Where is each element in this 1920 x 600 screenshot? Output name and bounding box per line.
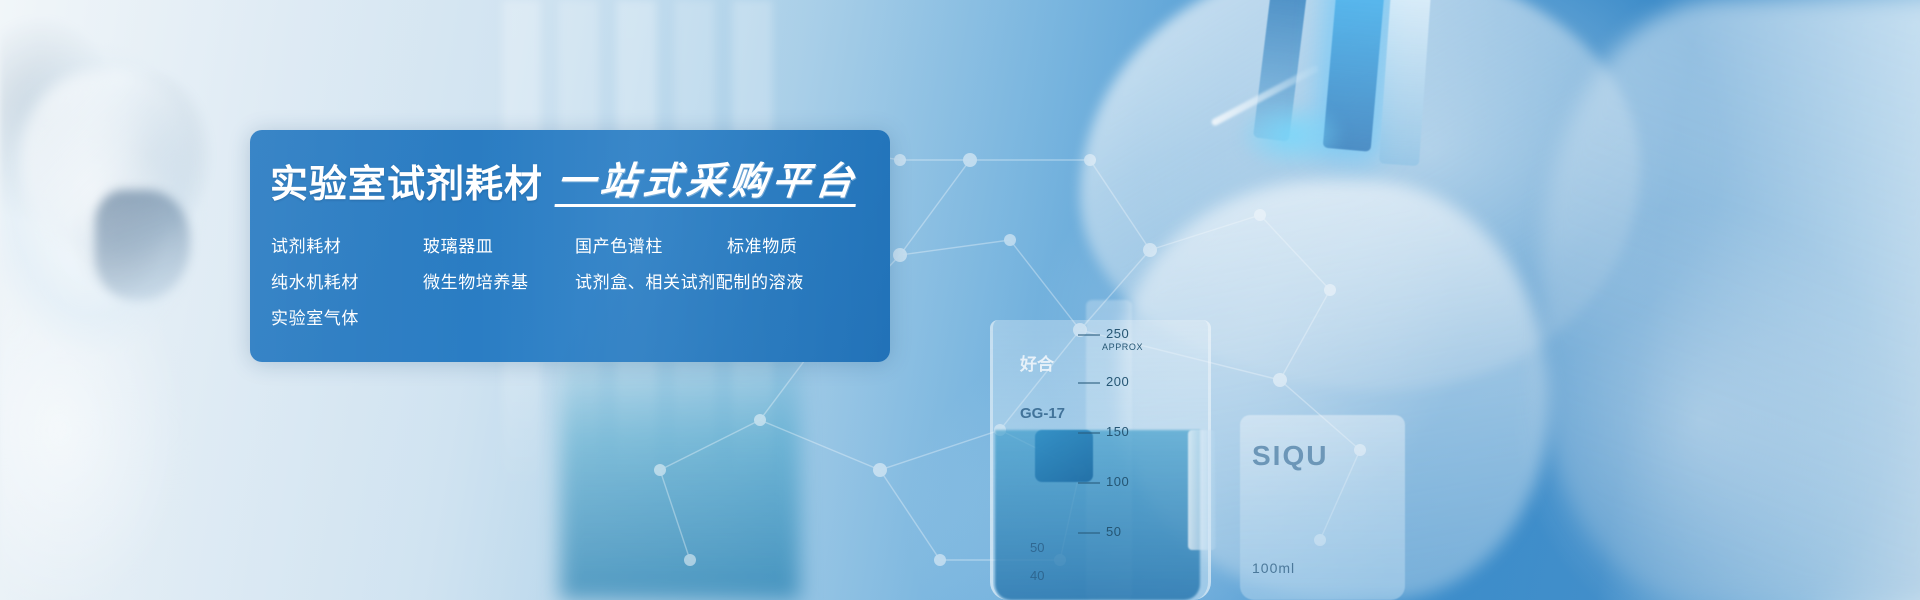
category-link-laboratory-gases[interactable]: 实验室气体: [271, 304, 423, 329]
category-row: 试剂耗材 玻璃器皿 国产色谱柱 标准物质: [271, 226, 871, 262]
beaker-grad-250: 250: [1106, 326, 1129, 341]
headline-accent-text: 一站式采购平台: [554, 159, 860, 207]
beaker-approx-label: APPROX: [1102, 342, 1143, 352]
beaker-grad-150: 150: [1106, 424, 1129, 439]
beaker-bottom-mark-50: 50: [1030, 540, 1044, 555]
category-link-water-purifier-consumables[interactable]: 纯水机耗材: [271, 268, 423, 293]
headline-main-text: 实验室试剂耗材: [270, 163, 543, 207]
beaker-grad-200: 200: [1106, 374, 1129, 389]
beaker-glass-code: GG-17: [1020, 405, 1065, 422]
headline: 实验室试剂耗材 一站式采购平台: [270, 155, 870, 207]
category-row: 纯水机耗材 微生物培养基 试剂盒、相关试剂配制的溶液: [271, 262, 871, 298]
lab-supply-banner: 好合 250 APPROX 200 150 100 50 GG-17 50 40…: [0, 0, 1920, 600]
beaker-grad-50: 50: [1106, 524, 1121, 539]
beaker-brand-label: 好合: [1020, 352, 1100, 378]
category-link-microbial-culture-media[interactable]: 微生物培养基: [423, 268, 575, 293]
right-flask-brand: SIQU: [1252, 440, 1328, 472]
category-row: 实验室气体: [271, 298, 871, 334]
category-link-glassware[interactable]: 玻璃器皿: [423, 232, 575, 257]
beaker-side-highlight: [1188, 430, 1216, 550]
category-link-reference-materials[interactable]: 标准物质: [727, 232, 797, 257]
category-link-reagent-consumables[interactable]: 试剂耗材: [271, 232, 423, 257]
right-flask-capacity: 100ml: [1252, 560, 1295, 576]
category-link-domestic-chromatography-column[interactable]: 国产色谱柱: [575, 232, 727, 257]
category-link-reagent-kits-solutions[interactable]: 试剂盒、相关试剂配制的溶液: [575, 268, 804, 293]
beaker-blue-marker: [1035, 430, 1093, 482]
beaker-grad-100: 100: [1106, 474, 1129, 489]
promo-panel: 实验室试剂耗材 一站式采购平台 试剂耗材 玻璃器皿 国产色谱柱 标准物质 纯水机…: [250, 130, 890, 362]
category-list: 试剂耗材 玻璃器皿 国产色谱柱 标准物质 纯水机耗材 微生物培养基 试剂盒、相关…: [271, 226, 871, 334]
beaker-bottom-mark-40: 40: [1030, 568, 1044, 583]
